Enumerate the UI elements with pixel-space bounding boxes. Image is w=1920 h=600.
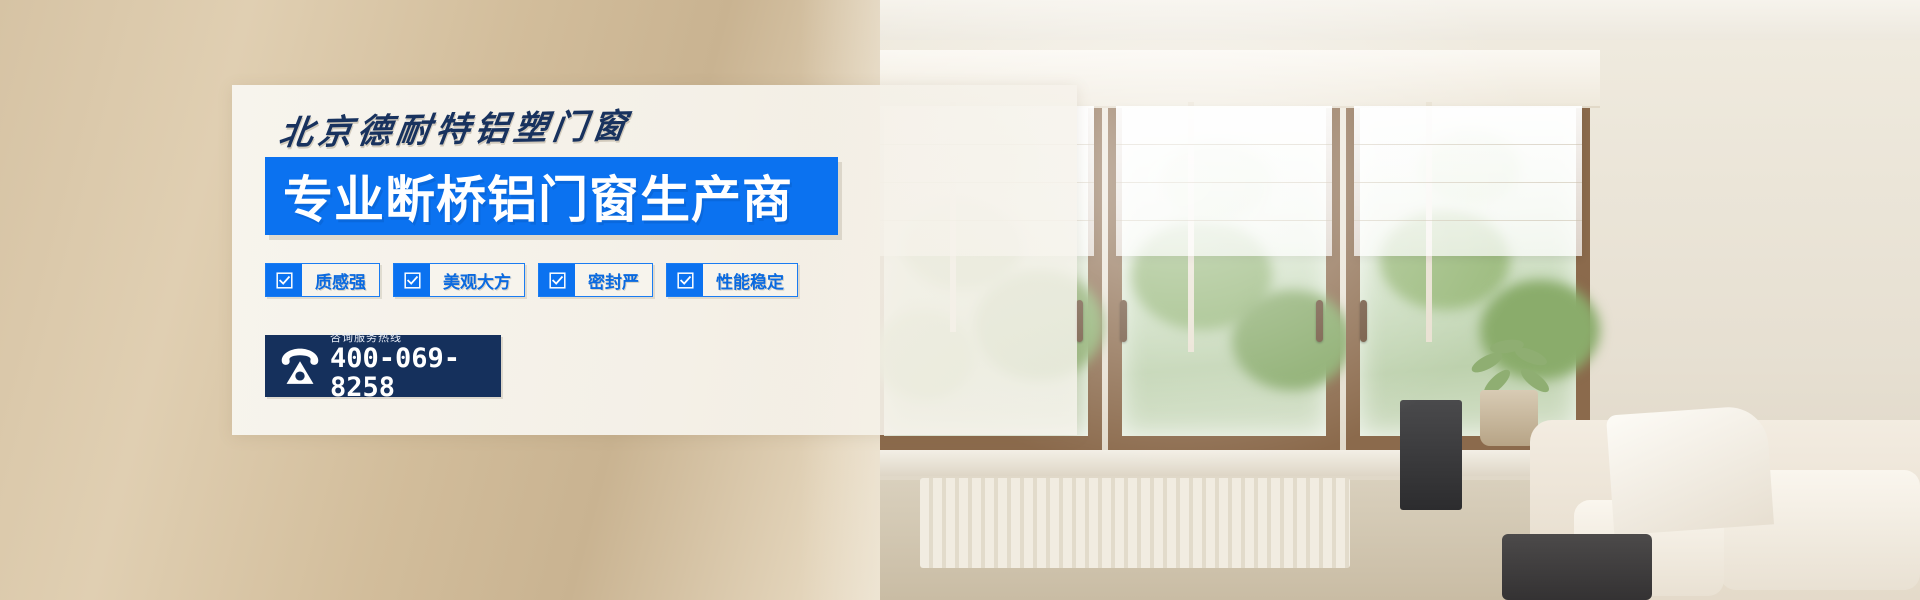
- contact-label: 咨询服务热线: [330, 331, 501, 344]
- ottoman: [1502, 534, 1652, 600]
- throw-blanket: [1606, 405, 1774, 536]
- brand-calligraphy: 北京德耐特铝塑门窗: [276, 98, 635, 154]
- headline-banner: 专业断桥铝门窗生产商: [265, 157, 838, 235]
- floor-speaker: [1400, 400, 1462, 510]
- feature-badge-label: 质感强: [302, 264, 379, 296]
- feature-badge[interactable]: 性能稳定: [666, 263, 798, 297]
- feature-badge[interactable]: 美观大方: [393, 263, 525, 297]
- contact-number: 400-069-8258: [330, 344, 501, 402]
- checkbox-checked-icon: [394, 264, 430, 296]
- window-handle-3: [1316, 300, 1323, 342]
- checkbox-checked-icon: [667, 264, 703, 296]
- checkbox-checked-icon: [539, 264, 575, 296]
- feature-badge[interactable]: 质感强: [265, 263, 380, 297]
- radiator: [920, 478, 1350, 568]
- feature-badge-label: 性能稳定: [703, 264, 797, 296]
- promo-card: 北京德耐特铝塑门窗 专业断桥铝门窗生产商 质感强 美观大方: [232, 85, 1077, 435]
- telephone-icon: [279, 346, 321, 386]
- checkbox-checked-icon: [266, 264, 302, 296]
- feature-badge-label: 美观大方: [430, 264, 524, 296]
- feature-badge-label: 密封严: [575, 264, 652, 296]
- window-handle-4: [1360, 300, 1367, 342]
- contact-hotline-box[interactable]: 咨询服务热线 400-069-8258: [265, 335, 501, 397]
- window-handle-1: [1076, 300, 1083, 342]
- roman-shade-center: [1116, 106, 1332, 256]
- window-sill: [880, 450, 1620, 476]
- feature-badge-list: 质感强 美观大方 密封严: [265, 263, 798, 297]
- feature-badge[interactable]: 密封严: [538, 263, 653, 297]
- headline-text: 专业断桥铝门窗生产商: [265, 160, 793, 232]
- contact-text: 咨询服务热线 400-069-8258: [330, 331, 501, 402]
- window-handle-2: [1120, 300, 1127, 342]
- roman-shade-right: [1354, 106, 1582, 256]
